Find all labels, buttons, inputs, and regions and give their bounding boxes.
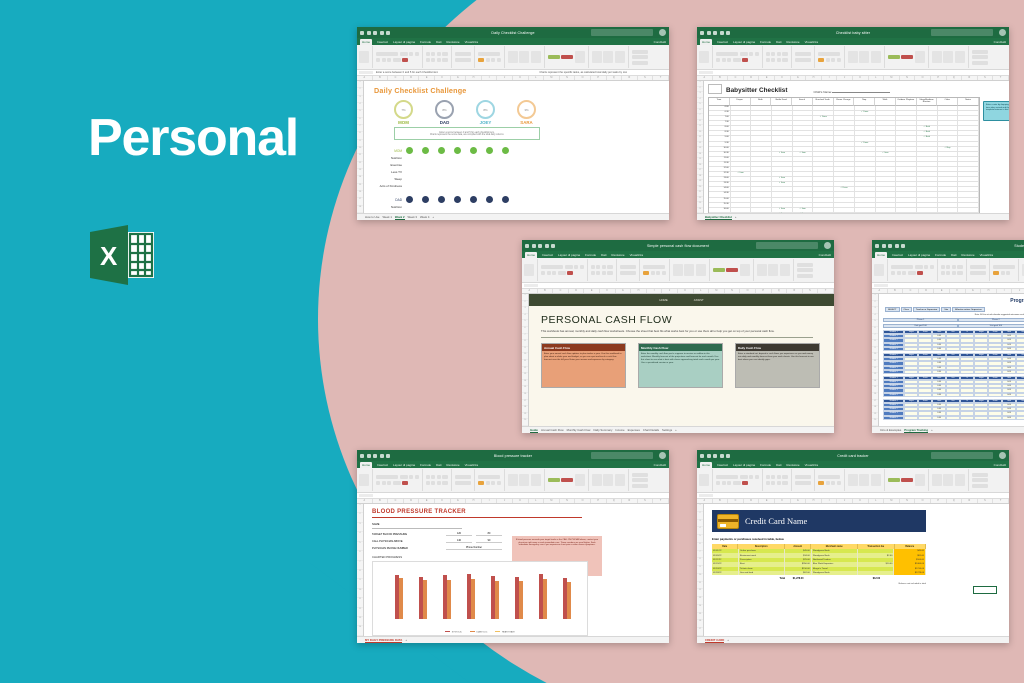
checklist-item: Nutrition: [364, 205, 406, 209]
search-box[interactable]: [591, 29, 653, 36]
sheet-canvas[interactable]: Babysitter Checklist Child's Name: Time …: [704, 81, 1009, 213]
child-name-field[interactable]: Child's Name:: [813, 90, 890, 94]
search-box[interactable]: [931, 29, 993, 36]
tab-page-layout[interactable]: Layout di pagina: [733, 463, 755, 467]
sheet-body: PERSONAL CASH FLOW This workbook has ann…: [529, 306, 834, 426]
sheet-tabs[interactable]: Babysitter Checklist +: [697, 213, 1009, 220]
sheet-tab-active[interactable]: Week 2: [395, 215, 405, 220]
checklist-item: Exercise: [364, 163, 406, 167]
tracking-block[interactable]: Student 1TargetScoreGoalHrs%TargetScoreG…: [883, 330, 1024, 351]
tab-insert[interactable]: Inserisci: [377, 463, 388, 467]
tracking-cell[interactable]: [918, 370, 932, 374]
add-sheet-button[interactable]: +: [405, 638, 407, 642]
card-daily-cash-flow[interactable]: Daily Cash Flow Enter a standard set, de…: [735, 343, 820, 388]
ribbon-body[interactable]: [357, 45, 669, 70]
tracking-cell[interactable]: [988, 393, 1002, 397]
card-title: Monthly Cash Flow: [639, 344, 722, 351]
select-class[interactable]: Class: [901, 307, 912, 312]
tab-formulas[interactable]: Formule: [760, 40, 771, 44]
sheet-title: Program Tracking: [879, 298, 1024, 304]
tracking-block[interactable]: Student 2TargetScoreGoalHrs%TargetScoreG…: [883, 353, 1024, 374]
card-monthly-cash-flow[interactable]: Monthly Cash Flow Enter the monthly cash…: [638, 343, 723, 388]
checklist-item: Acts of Kindness: [364, 184, 406, 188]
thumbnail-blood-pressure-tracker[interactable]: Blood pressure tracker Home Inserisci La…: [357, 450, 669, 643]
field-diastolic[interactable]: 80: [476, 532, 502, 536]
search-box[interactable]: [591, 452, 653, 459]
avatar[interactable]: [999, 29, 1006, 36]
sheet-tab[interactable]: Week 3: [408, 215, 417, 219]
checklist-item: Exercise: [364, 212, 406, 214]
ring-label: SARA: [517, 120, 536, 125]
worksheet-area[interactable]: 123456789101112131415161718192021222324 …: [697, 81, 1009, 213]
tracking-cell[interactable]: [946, 416, 960, 420]
tracking-cell[interactable]: [988, 370, 1002, 374]
sheet-tab-active[interactable]: Program Tracking: [904, 428, 928, 433]
sub-headers: Unit goal 100 Unit goal 100 Unit goal 10…: [883, 324, 1024, 328]
bar-diastolic: [519, 581, 523, 619]
tracking-cell[interactable]: [904, 370, 918, 374]
tab-data[interactable]: Dati: [951, 253, 956, 257]
select-action[interactable]: Effective action: Supervisor: [952, 307, 984, 312]
tracking-cell[interactable]: [1016, 347, 1024, 351]
ring-sara: 3% SARA: [517, 100, 536, 125]
header-note: Charts represent the specific tasks, as …: [539, 71, 667, 74]
worksheet-area[interactable]: 1234567891011121314 BLOOD PRESSURE TRACK…: [357, 504, 669, 636]
svg-text:X: X: [100, 241, 118, 271]
table-row[interactable]: 01/28/22Gas and food$62.00Woodgrove Bank…: [712, 571, 926, 575]
tab-review[interactable]: Revisione: [961, 253, 974, 257]
col-nap: Nap: [854, 98, 875, 106]
field-diastolic[interactable]: 90: [476, 539, 502, 543]
tab-home[interactable]: Home: [360, 39, 372, 45]
add-sheet-button[interactable]: +: [931, 428, 933, 432]
sheet-canvas[interactable]: BLOOD PRESSURE TRACKER NAME TARGET BLOOD…: [364, 504, 669, 636]
tab-view[interactable]: Visualizza: [980, 253, 993, 257]
tracking-cell[interactable]: [918, 347, 932, 351]
tracking-cell[interactable]: [988, 416, 1002, 420]
field-label: CALL PHYSICIAN ABOVE: [372, 540, 442, 543]
tab-insert[interactable]: Inserisci: [717, 463, 728, 467]
card-title: Daily Cash Flow: [736, 344, 819, 351]
sheet-tab[interactable]: Annual Cash Flow: [541, 428, 564, 432]
search-box[interactable]: [756, 242, 818, 249]
sheet-tab-active[interactable]: CREDIT CARD: [705, 638, 724, 643]
sheet-canvas[interactable]: Program Tracking SELECT Class Teacher or…: [879, 294, 1024, 426]
divider: [541, 337, 813, 338]
add-sheet-button[interactable]: +: [735, 215, 737, 219]
card-body: Enter the monthly cash flow you're suppo…: [639, 351, 722, 387]
row-label: Student 4: [883, 393, 904, 397]
sheet-canvas[interactable]: HOME ASSIST PERSONAL CASH FLOW This work…: [529, 294, 834, 426]
tab-home[interactable]: Home: [875, 252, 887, 258]
bar-systolic: [563, 578, 567, 619]
bar-group: [491, 576, 500, 619]
sheet-tab-active[interactable]: MY DAILY PRESSURE DATA: [365, 638, 402, 643]
tab-data[interactable]: Dati: [776, 463, 781, 467]
tracking-cell[interactable]: [960, 370, 974, 374]
cell-merchant[interactable]: Woodgrove Bank: [812, 571, 858, 575]
day-dot: [406, 147, 413, 154]
sheet-tab[interactable]: Chart Details: [643, 428, 659, 432]
phase-headers: Phase 1 Phase 2 Phase 3 Phase 4: [883, 318, 1024, 322]
tracking-cell[interactable]: 0.00: [932, 370, 946, 374]
add-sheet-button[interactable]: +: [727, 638, 729, 642]
tab-formulas[interactable]: Formule: [585, 253, 596, 257]
sheet-tabs[interactable]: CREDIT CARD +: [697, 636, 1009, 643]
bar-systolic: [443, 575, 447, 619]
ribbon-body[interactable]: [522, 258, 834, 283]
ribbon-tabs[interactable]: Home Inserisci Layout di pagina Formule …: [522, 251, 834, 258]
window-titlebar: Simple personal cash flow document: [522, 240, 834, 251]
bar-group: [467, 574, 476, 619]
col-diaper: Diaper: [730, 98, 751, 106]
name-box[interactable]: [699, 71, 713, 75]
row-headers[interactable]: 1234567891011121314151617181920: [522, 294, 529, 426]
sheet-tab[interactable]: Intro & Examples: [880, 428, 901, 432]
bar-diastolic: [495, 581, 499, 619]
callout-text: Enter a note by dropping the information…: [986, 104, 1009, 112]
worksheet-area[interactable]: 1234567891011121314151617181920 HOME ASS…: [522, 294, 834, 426]
sheet-tab-active[interactable]: Guide: [530, 428, 538, 433]
sheet-tabs[interactable]: How to Use Week 1 Week 2 Week 3 Week 4 +: [357, 213, 669, 220]
formula-input[interactable]: Enter a score between 0 and 5 for each C…: [376, 71, 438, 74]
col-bath: Bath: [751, 98, 772, 106]
field-phone-value[interactable]: Phone Number: [446, 546, 502, 550]
credit-card-icon: [717, 514, 739, 529]
section-header-row: DAD: [364, 196, 669, 203]
row-label: Student 4: [883, 370, 904, 374]
share-button[interactable]: Condividi: [994, 463, 1006, 467]
tracking-cell[interactable]: 0.00: [1002, 393, 1016, 397]
ribbon-tabs[interactable]: Home Inserisci Layout di pagina Formule …: [697, 38, 1009, 45]
row-headers[interactable]: 123456789101112131415161718: [357, 81, 364, 213]
card-annual-cash-flow[interactable]: Annual Cash Flow Enter your annual cash …: [541, 343, 626, 388]
sheet-note: Note: Fill the actual calendar suggested…: [879, 314, 1024, 316]
tracking-row[interactable]: Student 40.000.000.000.00: [883, 416, 1024, 420]
tracking-cell[interactable]: 0.00: [1002, 416, 1016, 420]
card-body: Enter your annual cash flow updates to p…: [542, 351, 625, 387]
sheet-tab[interactable]: Settings: [662, 428, 672, 432]
name-box[interactable]: [359, 71, 373, 75]
ribbon-body[interactable]: [357, 468, 669, 493]
nav-home[interactable]: HOME: [659, 298, 667, 302]
bar-group: [563, 578, 572, 619]
ring-mom: 7% MOM: [394, 100, 413, 125]
tracking-cell[interactable]: [988, 347, 1002, 351]
tab-home[interactable]: Home: [360, 462, 372, 468]
tracking-row[interactable]: Student 40.000.000.000.00: [883, 393, 1024, 397]
col-bedtime: Sleep/Bedtime Routine: [917, 98, 938, 106]
select-row[interactable]: SELECT Class Teacher or Supervisor Site …: [885, 307, 1024, 312]
thumbnail-credit-card-tracker[interactable]: Credit card tracker Home Inserisci Layou…: [697, 450, 1009, 643]
row-headers[interactable]: 123456789101112131415161718192021222324: [697, 81, 704, 213]
hero-block: Personal: [88, 112, 298, 164]
field-label: PHYSICIAN PHONE NUMBER: [372, 547, 442, 550]
tab-view[interactable]: Visualizza: [805, 40, 818, 44]
thumbnail-program-tracking[interactable]: Student tracking Home Inserisci Layout d…: [872, 240, 1024, 433]
sheet-tab[interactable]: Monthly Cash Flow: [567, 428, 591, 432]
tab-review[interactable]: Revisione: [611, 253, 624, 257]
sheet-tab[interactable]: Income: [615, 428, 624, 432]
alert-text: If blood pressure exceeds your target le…: [515, 539, 599, 547]
section-mom: MOM Nutrition Exercise Less: [364, 147, 669, 189]
tracking-cell[interactable]: [918, 416, 932, 420]
tab-view[interactable]: Visualizza: [630, 253, 643, 257]
tracking-block[interactable]: Student 4TargetScoreGoalHrs%TargetScoreG…: [883, 399, 1024, 420]
tracking-cell[interactable]: [918, 393, 932, 397]
tab-insert[interactable]: Inserisci: [542, 253, 553, 257]
sheet-canvas[interactable]: Credit Card Name Enter payments or purch…: [704, 504, 1009, 636]
name-box[interactable]: [524, 284, 538, 288]
bar-group: [539, 574, 548, 619]
thumbnail-personal-cash-flow[interactable]: Simple personal cash flow document Home …: [522, 240, 834, 433]
tab-data[interactable]: Dati: [601, 253, 606, 257]
col-walk: Walk: [875, 98, 896, 106]
tracking-cell[interactable]: 0.00: [932, 393, 946, 397]
tracking-cell[interactable]: 0.00: [932, 416, 946, 420]
tab-review[interactable]: Revisione: [786, 40, 799, 44]
row-headers[interactable]: 1234567891011121314151617181920: [872, 294, 879, 426]
day-dot: [470, 196, 477, 203]
instruction-note: Enter a score between 0 and 5 for each c…: [394, 127, 540, 140]
tab-formulas[interactable]: Formule: [420, 40, 431, 44]
avatar[interactable]: [999, 452, 1006, 459]
col-bottle-feed: Bottle Feed: [771, 98, 792, 106]
bar-group: [515, 577, 524, 619]
tracking-cell[interactable]: [974, 416, 988, 420]
tracking-cell[interactable]: 0.00: [1002, 370, 1016, 374]
tab-page-layout[interactable]: Layout di pagina: [908, 253, 930, 257]
worksheet-area[interactable]: 1234567891011121314151617 Credit Card Na…: [697, 504, 1009, 636]
tracking-cell[interactable]: [960, 393, 974, 397]
tab-formulas[interactable]: Formule: [935, 253, 946, 257]
ring-label: JOEY: [476, 120, 495, 125]
tracking-cell[interactable]: [1016, 393, 1024, 397]
bar-group: [419, 577, 428, 620]
tab-formulas[interactable]: Formule: [760, 463, 771, 467]
tab-data[interactable]: Dati: [776, 40, 781, 44]
checklist-item: Sleep: [364, 177, 406, 181]
sheet-lead: This workbook has annual, monthly and da…: [541, 329, 811, 333]
tracking-cell[interactable]: [904, 416, 918, 420]
field-systolic[interactable]: 120: [446, 532, 472, 536]
avatar[interactable]: [659, 29, 666, 36]
tracking-cell[interactable]: [960, 347, 974, 351]
add-sheet-button[interactable]: +: [675, 428, 677, 432]
nav-strip[interactable]: HOME ASSIST: [529, 294, 834, 306]
checklist-item: Nutrition: [364, 156, 406, 160]
checklist-grid[interactable]: Time Diaper Bath Bottle Feed Snack Brush…: [708, 97, 980, 213]
avatar[interactable]: [824, 242, 831, 249]
tracking-row[interactable]: Student 40.000.000.000.00: [883, 347, 1024, 351]
tab-view[interactable]: Visualizza: [805, 463, 818, 467]
col-outdoor: Outdoor Playtime: [896, 98, 917, 106]
col-room-change: Room Change: [834, 98, 855, 106]
tab-home[interactable]: Home: [700, 39, 712, 45]
avatar[interactable]: [659, 452, 666, 459]
share-button[interactable]: Condividi: [819, 253, 831, 257]
sheet-header: Babysitter Checklist Child's Name:: [704, 81, 1009, 94]
tracking-cell[interactable]: [946, 370, 960, 374]
sheet-tabs[interactable]: MY DAILY PRESSURE DATA +: [357, 636, 669, 643]
tracking-cell[interactable]: [904, 347, 918, 351]
tab-view[interactable]: Visualizza: [465, 40, 478, 44]
tracking-cell[interactable]: 0.00: [1002, 347, 1016, 351]
cell-amount[interactable]: $62.00: [785, 571, 812, 575]
ribbon-tabs[interactable]: Home Inserisci Layout di pagina Formule …: [872, 251, 1024, 258]
select-teacher[interactable]: Teacher or Supervisor: [913, 307, 940, 312]
ribbon-body[interactable]: [697, 45, 1009, 70]
day-dot: [454, 196, 461, 203]
chart-legend: SYSTOLIC DIASTOLIC HEART RATE: [373, 631, 587, 633]
col-time: Time: [709, 98, 730, 106]
ribbon-tabs[interactable]: Home Inserisci Layout di pagina Formule …: [697, 461, 1009, 468]
sheet-title: BLOOD PRESSURE TRACKER: [372, 509, 669, 515]
field-systolic[interactable]: 140: [446, 539, 472, 543]
tab-view[interactable]: Visualizza: [465, 463, 478, 467]
day-dot: [502, 196, 509, 203]
sub-2: Unit goal 100: [958, 324, 1024, 328]
tracking-row[interactable]: Student 40.000.000.000.00: [883, 370, 1024, 374]
section-label: DAD: [364, 198, 406, 202]
select-site[interactable]: Site: [941, 307, 951, 312]
select-label: SELECT: [885, 307, 900, 312]
sheet-canvas[interactable]: Daily Checklist Challenge 7% MOM 8% DAD …: [364, 81, 669, 213]
sheet-tab[interactable]: Daily Summary: [593, 428, 612, 432]
thumbnail-babysitter-checklist[interactable]: Checklist baby sitter Home Inserisci Lay…: [697, 27, 1009, 220]
add-sheet-button[interactable]: +: [432, 215, 434, 219]
worksheet-area[interactable]: 1234567891011121314151617181920 Program …: [872, 294, 1024, 426]
total-label: Total: [738, 577, 785, 580]
sub-1: Unit goal 100: [883, 324, 958, 328]
card-name: Credit Card Name: [745, 516, 807, 526]
tab-home[interactable]: Home: [700, 462, 712, 468]
tab-insert[interactable]: Inserisci: [377, 40, 388, 44]
cell-balance[interactable]: $1278.00: [894, 571, 926, 575]
tracking-cell[interactable]: [946, 393, 960, 397]
sheet-tabs[interactable]: Guide Annual Cash Flow Monthly Cash Flow…: [522, 426, 834, 433]
bar-systolic: [491, 576, 495, 619]
worksheet-area[interactable]: 123456789101112131415161718 Daily Checkl…: [357, 81, 669, 213]
share-button[interactable]: Condividi: [654, 40, 666, 44]
sheet-tab[interactable]: Week 1: [382, 215, 391, 219]
tracking-cell[interactable]: [974, 393, 988, 397]
tab-page-layout[interactable]: Layout di pagina: [733, 40, 755, 44]
phase-1: Phase 1: [883, 318, 958, 322]
tracking-cell[interactable]: 0.00: [932, 347, 946, 351]
tab-page-layout[interactable]: Layout di pagina: [393, 40, 415, 44]
phase-2: Phase 2: [958, 318, 1024, 322]
ring-joey: 8% JOEY: [476, 100, 495, 125]
ribbon-body[interactable]: [697, 468, 1009, 493]
tracking-cell[interactable]: [904, 393, 918, 397]
search-box[interactable]: [931, 452, 993, 459]
table-footnote: Balance not included in total: [712, 583, 926, 585]
tab-page-layout[interactable]: Layout di pagina: [393, 463, 415, 467]
credit-card-table[interactable]: Date Description Amount Merchant name Tr…: [712, 544, 926, 580]
tab-insert[interactable]: Inserisci: [892, 253, 903, 257]
day-dot: [406, 196, 413, 203]
sheet-tab[interactable]: Expenses: [628, 428, 640, 432]
section-label: MOM: [364, 149, 406, 153]
tab-review[interactable]: Revisione: [786, 463, 799, 467]
nav-assist[interactable]: ASSIST: [694, 298, 704, 302]
ribbon-tabs[interactable]: Home Inserisci Layout di pagina Formule …: [357, 38, 669, 45]
bar-diastolic: [567, 582, 571, 619]
window-titlebar: Blood pressure tracker: [357, 450, 669, 461]
name-box[interactable]: [699, 494, 713, 498]
share-button[interactable]: Condividi: [994, 40, 1006, 44]
bp-chart: SYSTOLIC DIASTOLIC HEART RATE: [372, 561, 588, 636]
tracking-cell[interactable]: [946, 347, 960, 351]
selected-cell[interactable]: [973, 586, 997, 594]
tracking-cell[interactable]: [1016, 416, 1024, 420]
info-cards: Annual Cash Flow Enter your annual cash …: [541, 343, 822, 388]
sheet-title: Daily Checklist Challenge: [374, 86, 669, 95]
bar-diastolic: [471, 579, 475, 619]
name-box[interactable]: [359, 494, 373, 498]
cell-date[interactable]: 01/28/22: [712, 571, 739, 575]
ribbon-body[interactable]: [872, 258, 1024, 283]
legend-diastolic: DIASTOLIC: [470, 631, 487, 633]
tab-data[interactable]: Dati: [436, 40, 441, 44]
cell-description[interactable]: Gas and food: [739, 571, 785, 575]
bar-systolic: [515, 577, 519, 619]
table-rows[interactable]: 01/01/22Online purchase$45.00Woodgrove B…: [712, 549, 926, 575]
tracking-cell[interactable]: [974, 347, 988, 351]
thumbnail-daily-checklist[interactable]: Daily Checklist Challenge Home Inserisci…: [357, 27, 669, 220]
ribbon-tabs[interactable]: Home Inserisci Layout di pagina Formule …: [357, 461, 669, 468]
tab-page-layout[interactable]: Layout di pagina: [558, 253, 580, 257]
totals-row: Total $1,278.00 $12.00: [712, 577, 926, 580]
sheet-tab[interactable]: Week 4: [420, 215, 429, 219]
tab-formulas[interactable]: Formule: [420, 463, 431, 467]
tracking-block[interactable]: Student 3TargetScoreGoalHrs%TargetScoreG…: [883, 376, 1024, 397]
bar-diastolic: [399, 578, 403, 619]
row-headers[interactable]: 1234567891011121314: [357, 504, 364, 636]
row-headers[interactable]: 1234567891011121314151617: [697, 504, 704, 636]
name-input[interactable]: [372, 526, 462, 529]
tab-home[interactable]: Home: [525, 252, 537, 258]
name-box[interactable]: [874, 284, 888, 288]
sheet-tab-active[interactable]: Babysitter Checklist: [705, 215, 732, 220]
window-titlebar: Checklist baby sitter: [697, 27, 1009, 38]
tracking-cell[interactable]: [960, 416, 974, 420]
share-button[interactable]: Condividi: [654, 463, 666, 467]
tab-review[interactable]: Revisione: [446, 40, 459, 44]
day-dots: [406, 196, 509, 203]
cell-fee[interactable]: [858, 571, 894, 575]
grid-rows[interactable]: 6:006:30✓ Done7:00✓ Done7:308:00✓ Bath8:…: [709, 106, 979, 213]
tab-data[interactable]: Dati: [436, 463, 441, 467]
col-other: Other: [937, 98, 958, 106]
ring-gauge: 8%: [435, 100, 454, 119]
bar-systolic: [395, 575, 399, 619]
bar-diastolic: [447, 580, 451, 620]
tracking-blocks[interactable]: Student 1TargetScoreGoalHrs%TargetScoreG…: [879, 330, 1024, 420]
poster-canvas: Personal X Daily Checklist Challenge: [0, 0, 1024, 683]
sheet-tab[interactable]: How to Use: [365, 215, 379, 219]
tab-insert[interactable]: Inserisci: [717, 40, 728, 44]
ring-gauge: 8%: [476, 100, 495, 119]
total-amount: $1,278.00: [785, 577, 811, 580]
card-banner: Credit Card Name: [712, 510, 926, 532]
tab-review[interactable]: Revisione: [446, 463, 459, 467]
tracking-cell[interactable]: [974, 370, 988, 374]
sheet-tabs[interactable]: Intro & Examples Program Tracking +: [872, 426, 1024, 433]
chart-bars: [387, 570, 579, 619]
tracking-cell[interactable]: [1016, 370, 1024, 374]
